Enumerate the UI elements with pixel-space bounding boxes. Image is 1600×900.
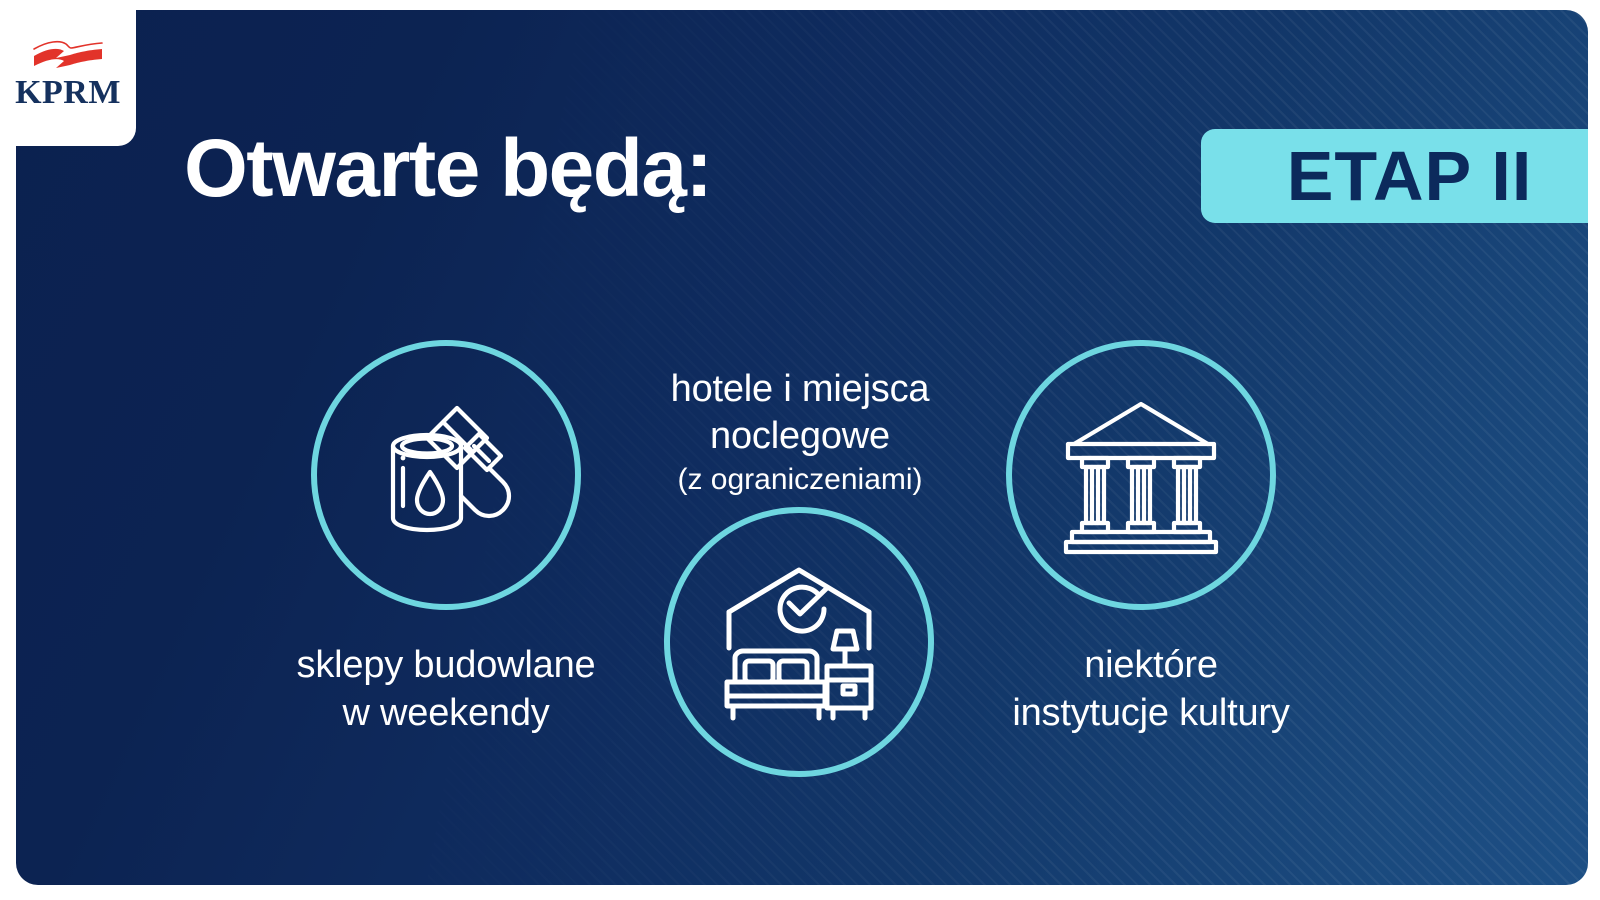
hotel-bed-house-check-icon: [713, 556, 885, 728]
kprm-logo: KPRM: [0, 0, 136, 146]
polish-flag-icon: [30, 36, 106, 76]
classical-museum-building-icon: [1058, 392, 1224, 558]
item-caption-hotele: hotele i miejsca noclegowe (z ograniczen…: [571, 318, 1029, 546]
icon-ring-hotel: [664, 507, 934, 777]
page-title: Otwarte będą:: [184, 128, 711, 210]
item-caption-hotele-note: (z ograniczeniami): [571, 461, 1029, 499]
poster-card: Otwarte będą: ETAP II: [16, 10, 1588, 885]
status-badge-label: ETAP II: [1273, 141, 1533, 211]
item-caption-kultura: niektóre instytucje kultury: [901, 642, 1401, 737]
status-badge: ETAP II: [1201, 129, 1588, 223]
item-caption-sklepy: sklepy budowlane w weekendy: [156, 642, 736, 737]
icon-ring-culture: [1006, 340, 1276, 610]
paint-can-brush-icon: [361, 390, 531, 560]
icon-ring-paint: [311, 340, 581, 610]
item-caption-hotele-main: hotele i miejsca noclegowe: [671, 368, 930, 458]
kprm-wordmark: KPRM: [15, 76, 121, 110]
infographic-canvas: Otwarte będą: ETAP II: [0, 0, 1600, 900]
